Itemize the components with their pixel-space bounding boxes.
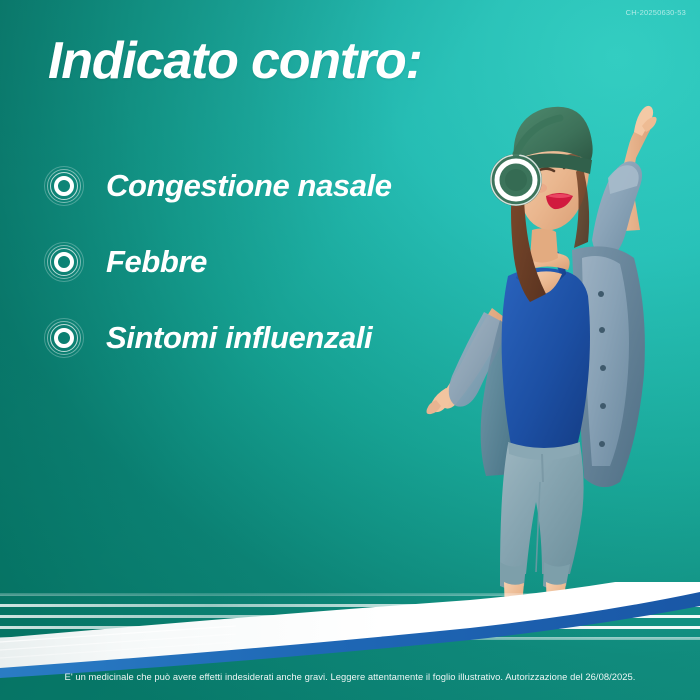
list-item-label: Sintomi influenzali (106, 320, 372, 356)
advertisement-canvas: CH-20250630-53 Indicato contro: Congesti… (0, 0, 700, 700)
list-item-label: Febbre (106, 244, 207, 280)
target-circle-icon (44, 242, 84, 282)
disclaimer-text: E' un medicinale che può avere effetti i… (65, 671, 636, 682)
target-circle-icon (44, 166, 84, 206)
regulatory-code-stamp: CH-20250630-53 (626, 8, 686, 17)
model-photo (396, 62, 700, 622)
target-circle-icon (44, 318, 84, 358)
disclaimer-bar: E' un medicinale che può avere effetti i… (0, 652, 700, 700)
page-title: Indicato contro: (48, 34, 422, 89)
list-item-label: Congestione nasale (106, 168, 392, 204)
